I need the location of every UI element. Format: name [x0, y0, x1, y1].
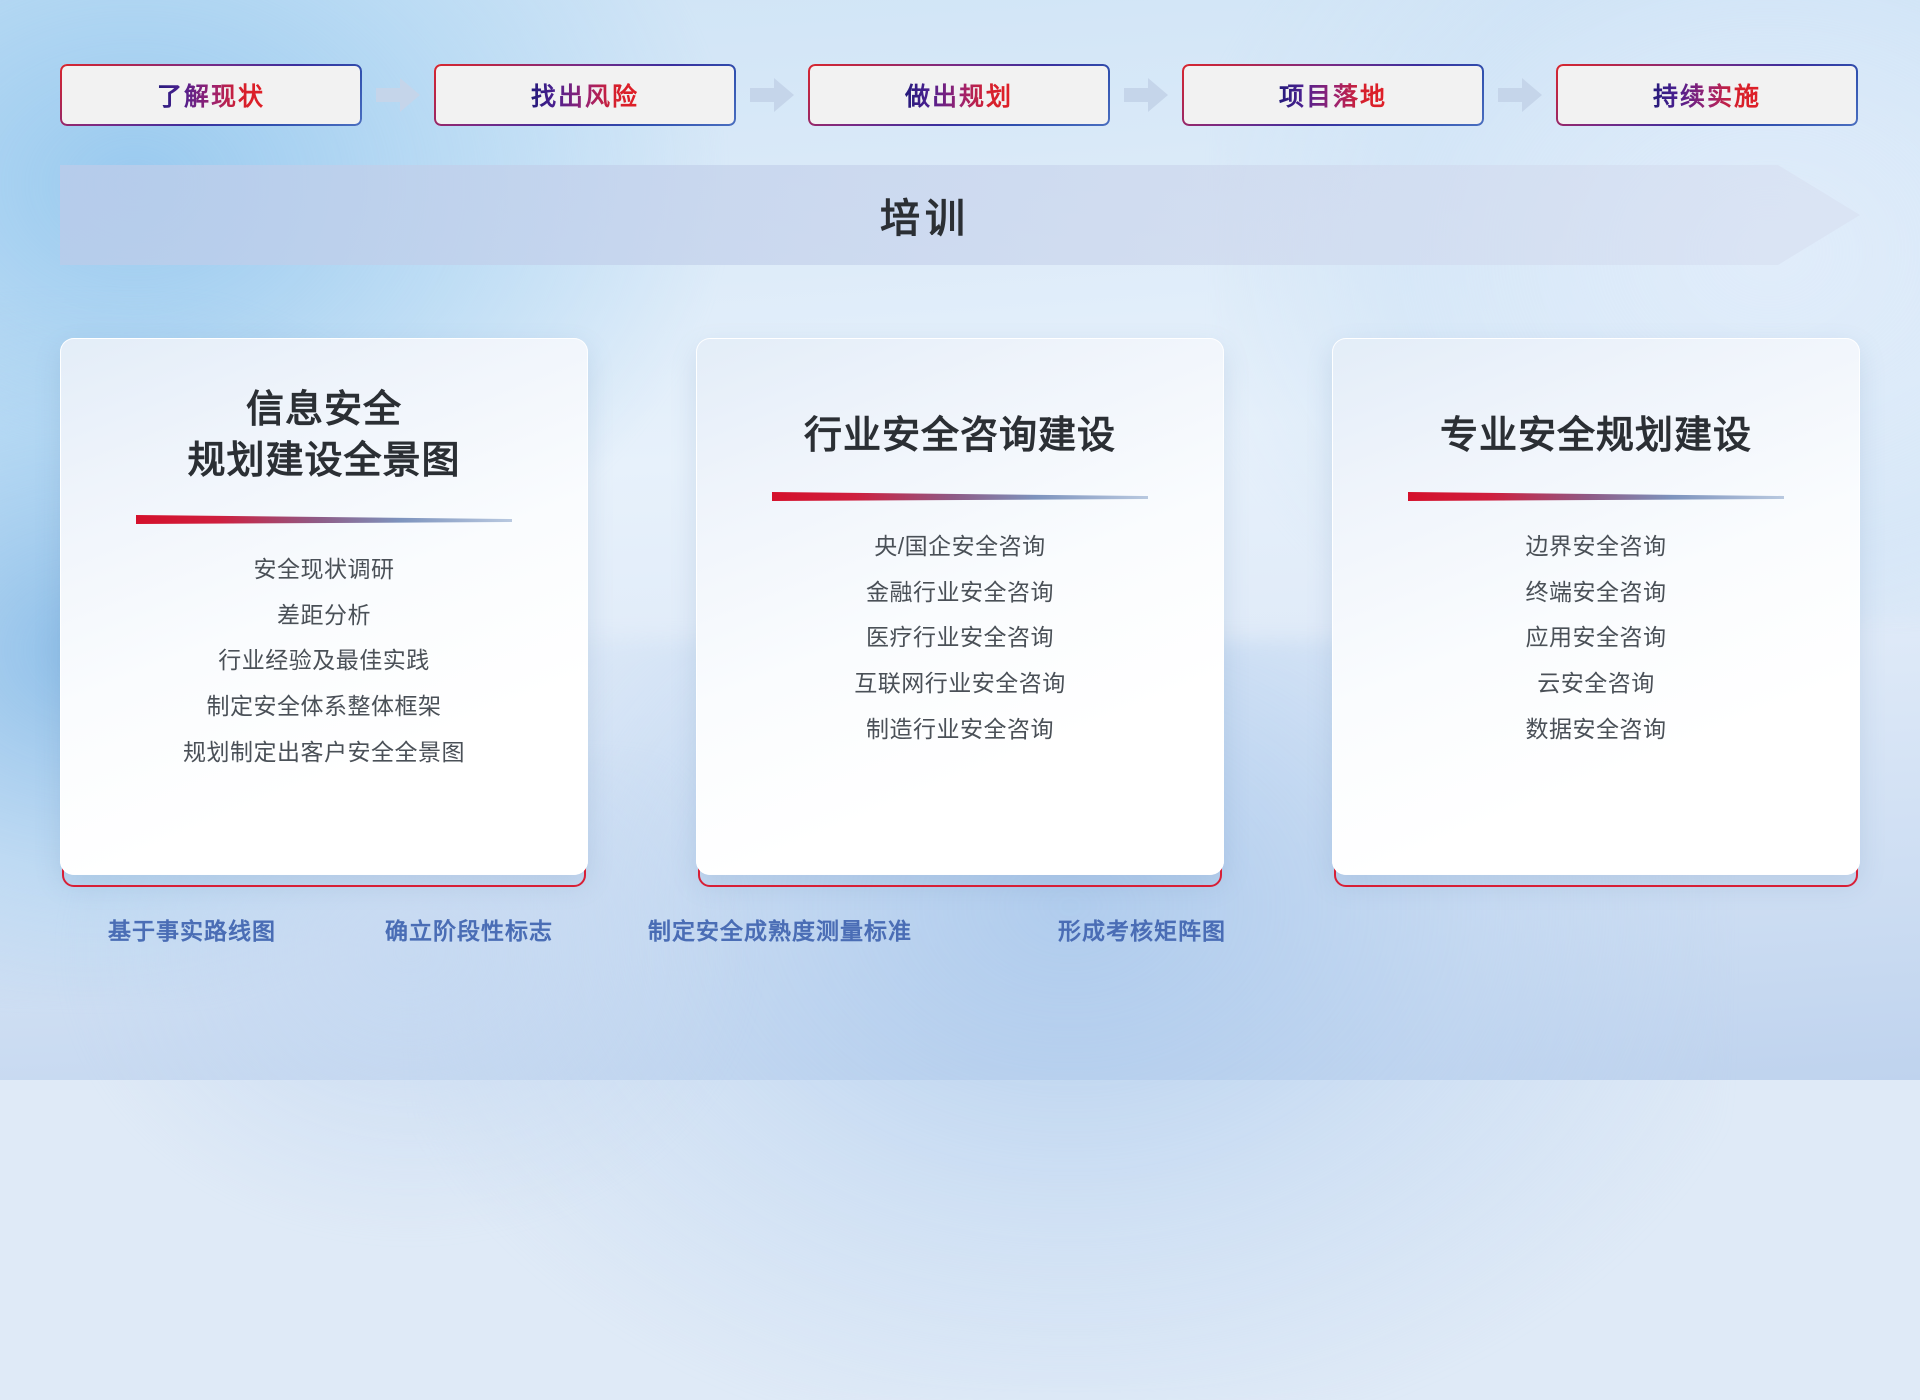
list-item: 安全现状调研: [254, 552, 395, 588]
card-divider: [136, 512, 512, 526]
arrow-right-icon: [1498, 78, 1542, 112]
card-row: 信息安全 规划建设全景图安全现状调研差距分析行业经验及最佳实践制定安全体系整体框…: [60, 338, 1860, 878]
step-label-1: 了解现状: [157, 77, 265, 113]
card-1[interactable]: 信息安全 规划建设全景图安全现状调研差距分析行业经验及最佳实践制定安全体系整体框…: [60, 338, 588, 875]
process-step-row: 了解现状找出风险做出规划项目落地持续实施: [60, 64, 1860, 126]
step-label-3: 做出规划: [905, 77, 1013, 113]
caption-3: 制定安全成熟度测量标准: [648, 912, 912, 946]
card-title: 信息安全 规划建设全景图: [187, 385, 460, 486]
card-3[interactable]: 专业安全规划建设边界安全咨询终端安全咨询应用安全咨询云安全咨询数据安全咨询: [1332, 338, 1860, 875]
step-box-5[interactable]: 持续实施: [1556, 64, 1858, 126]
list-item: 数据安全咨询: [1526, 712, 1667, 748]
card-body: 专业安全规划建设边界安全咨询终端安全咨询应用安全咨询云安全咨询数据安全咨询: [1332, 338, 1860, 875]
list-item: 制造行业安全咨询: [866, 712, 1054, 748]
step-box-1[interactable]: 了解现状: [60, 64, 362, 126]
list-item: 央/国企安全咨询: [874, 529, 1045, 565]
step-label-5: 持续实施: [1653, 77, 1761, 113]
card-item-list: 央/国企安全咨询金融行业安全咨询医疗行业安全咨询互联网行业安全咨询制造行业安全咨…: [697, 529, 1223, 747]
step-arrow-2: [736, 64, 808, 126]
step-label-4: 项目落地: [1279, 77, 1387, 113]
card-item-list: 边界安全咨询终端安全咨询应用安全咨询云安全咨询数据安全咨询: [1333, 529, 1859, 747]
step-box-3[interactable]: 做出规划: [808, 64, 1110, 126]
card-title: 专业安全规划建设: [1440, 411, 1752, 463]
step-label-2: 找出风险: [531, 77, 639, 113]
caption-4: 形成考核矩阵图: [1058, 912, 1226, 946]
arrow-right-icon: [376, 78, 420, 112]
step-arrow-4: [1484, 64, 1556, 126]
step-arrow-3: [1110, 64, 1182, 126]
caption-2: 确立阶段性标志: [385, 912, 553, 946]
caption-1: 基于事实路线图: [108, 912, 276, 946]
card-title: 行业安全咨询建设: [804, 411, 1116, 463]
caption-row: 基于事实路线图确立阶段性标志制定安全成熟度测量标准形成考核矩阵图: [60, 912, 1860, 956]
list-item: 金融行业安全咨询: [866, 575, 1054, 611]
card-body: 行业安全咨询建设央/国企安全咨询金融行业安全咨询医疗行业安全咨询互联网行业安全咨…: [696, 338, 1224, 875]
card-body: 信息安全 规划建设全景图安全现状调研差距分析行业经验及最佳实践制定安全体系整体框…: [60, 338, 588, 875]
list-item: 边界安全咨询: [1526, 529, 1667, 565]
training-banner-label: 培训: [60, 165, 1790, 265]
step-box-4[interactable]: 项目落地: [1182, 64, 1484, 126]
list-item: 云安全咨询: [1537, 666, 1655, 702]
list-item: 规划制定出客户安全全景图: [183, 735, 465, 771]
card-2[interactable]: 行业安全咨询建设央/国企安全咨询金融行业安全咨询医疗行业安全咨询互联网行业安全咨…: [696, 338, 1224, 875]
list-item: 终端安全咨询: [1526, 575, 1667, 611]
list-item: 行业经验及最佳实践: [218, 643, 430, 679]
list-item: 医疗行业安全咨询: [866, 620, 1054, 656]
list-item: 互联网行业安全咨询: [854, 666, 1066, 702]
list-item: 差距分析: [277, 598, 371, 634]
card-divider: [772, 489, 1148, 503]
card-item-list: 安全现状调研差距分析行业经验及最佳实践制定安全体系整体框架规划制定出客户安全全景…: [61, 552, 587, 770]
arrow-right-icon: [1124, 78, 1168, 112]
step-box-2[interactable]: 找出风险: [434, 64, 736, 126]
list-item: 应用安全咨询: [1526, 620, 1667, 656]
training-banner: 培训: [60, 165, 1860, 265]
list-item: 制定安全体系整体框架: [207, 689, 442, 725]
card-divider: [1408, 489, 1784, 503]
arrow-right-icon: [750, 78, 794, 112]
step-arrow-1: [362, 64, 434, 126]
